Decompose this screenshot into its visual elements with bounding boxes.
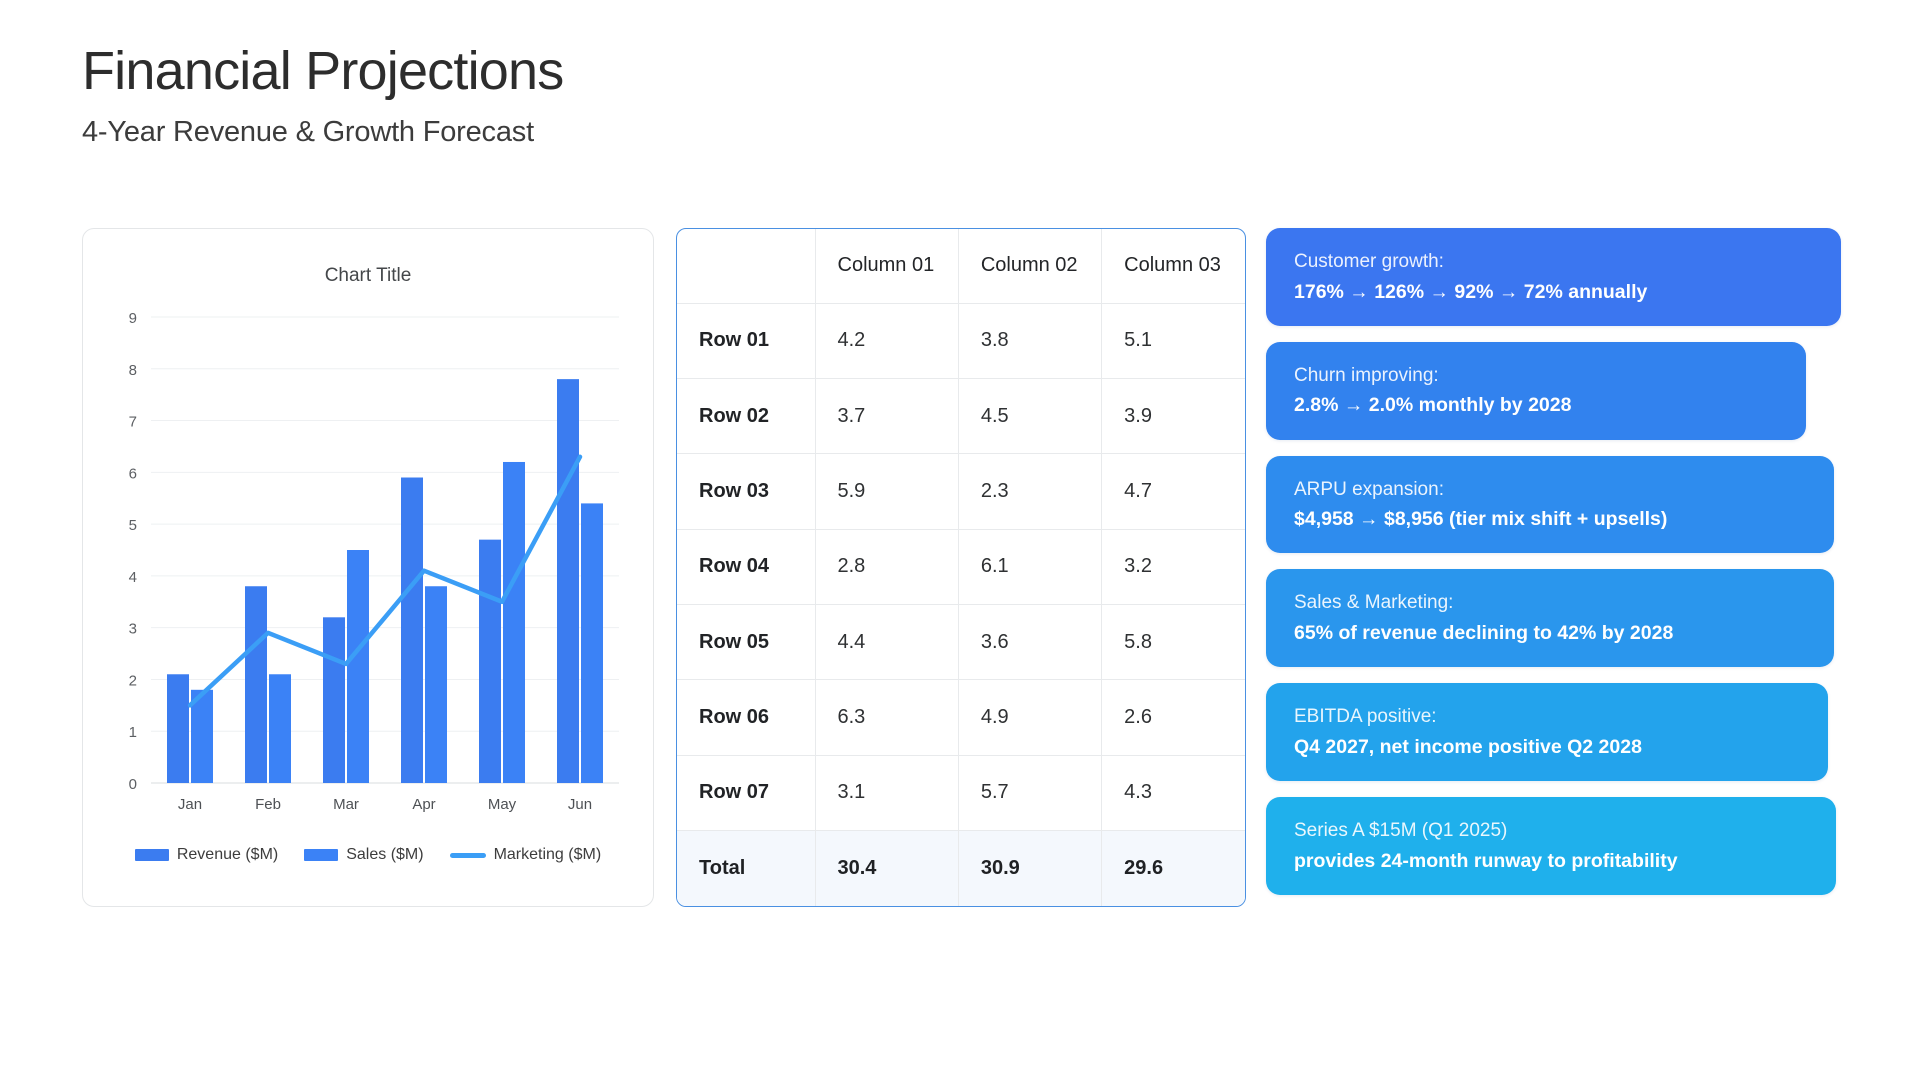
table-cell: 3.6 [958, 605, 1101, 680]
insight-card[interactable]: Churn improving:2.8% → 2.0% monthly by 2… [1266, 342, 1806, 440]
table-row-label: Row 07 [677, 755, 815, 830]
table-row[interactable]: Row 035.92.34.7 [677, 454, 1245, 529]
bar [557, 379, 579, 783]
table-row[interactable]: Row 054.43.65.8 [677, 605, 1245, 680]
table-cell: 4.3 [1102, 755, 1245, 830]
insight-card-value: provides 24-month runway to profitabilit… [1294, 847, 1808, 875]
table-row-label: Row 06 [677, 680, 815, 755]
insight-card-value: 176% → 126% → 92% → 72% annually [1294, 278, 1813, 306]
y-axis-tick-label: 0 [129, 776, 137, 793]
bar-line-chart: 0123456789JanFebMarAprMayJun [83, 299, 655, 839]
table-body: Row 014.23.85.1Row 023.74.53.9Row 035.92… [677, 303, 1245, 906]
bar [581, 503, 603, 783]
insight-card-label: ARPU expansion: [1294, 476, 1806, 504]
legend-line-icon [450, 853, 486, 858]
y-axis-tick-label: 6 [129, 465, 137, 482]
y-axis-tick-label: 5 [129, 517, 137, 534]
bar [167, 674, 189, 783]
table-col-header-2[interactable]: Column 02 [958, 229, 1101, 303]
legend-item[interactable]: Revenue ($M) [135, 846, 278, 864]
y-axis-tick-label: 3 [129, 621, 137, 638]
data-table: Column 01 Column 02 Column 03 Row 014.23… [677, 229, 1245, 906]
legend-item[interactable]: Sales ($M) [304, 846, 423, 864]
table-cell: 3.2 [1102, 529, 1245, 604]
table-row[interactable]: Row 014.23.85.1 [677, 303, 1245, 378]
table-cell: 2.3 [958, 454, 1101, 529]
legend-item[interactable]: Marketing ($M) [450, 846, 602, 864]
insight-card-list: Customer growth:176% → 126% → 92% → 72% … [1266, 228, 1866, 911]
table-col-header-1[interactable]: Column 01 [815, 229, 958, 303]
y-axis-tick-label: 8 [129, 362, 137, 379]
insight-card-label: Customer growth: [1294, 248, 1813, 276]
table-row-label: Row 04 [677, 529, 815, 604]
data-table-container[interactable]: Column 01 Column 02 Column 03 Row 014.23… [676, 228, 1246, 907]
legend-label: Revenue ($M) [177, 846, 278, 864]
table-cell: 2.6 [1102, 680, 1245, 755]
insight-card-label: Sales & Marketing: [1294, 589, 1806, 617]
insight-card-value: Q4 2027, net income positive Q2 2028 [1294, 733, 1800, 761]
legend-label: Sales ($M) [346, 846, 423, 864]
chart-legend: Revenue ($M)Sales ($M)Marketing ($M) [83, 846, 653, 864]
insight-card[interactable]: ARPU expansion:$4,958 → $8,956 (tier mix… [1266, 456, 1834, 554]
page-title: Financial Projections [82, 42, 563, 100]
legend-label: Marketing ($M) [494, 846, 602, 864]
insight-card[interactable]: EBITDA positive:Q4 2027, net income posi… [1266, 683, 1828, 781]
x-axis-tick-label: Feb [255, 796, 281, 813]
table-cell: 6.1 [958, 529, 1101, 604]
table-head: Column 01 Column 02 Column 03 [677, 229, 1245, 303]
bar [503, 462, 525, 783]
bar [479, 540, 501, 783]
table-cell: 4.5 [958, 378, 1101, 453]
x-axis-tick-label: May [488, 796, 517, 813]
table-row-label: Row 03 [677, 454, 815, 529]
insight-card-value: 65% of revenue declining to 42% by 2028 [1294, 619, 1806, 647]
chart-card: Chart Title 0123456789JanFebMarAprMayJun… [82, 228, 654, 907]
table-cell: 4.9 [958, 680, 1101, 755]
insight-card-label: EBITDA positive: [1294, 703, 1800, 731]
table-row-label: Row 05 [677, 605, 815, 680]
table-total-cell: 29.6 [1102, 831, 1245, 906]
table-total-cell: 30.4 [815, 831, 958, 906]
table-row[interactable]: Row 023.74.53.9 [677, 378, 1245, 453]
table-cell: 5.8 [1102, 605, 1245, 680]
bar [245, 586, 267, 783]
insight-card-label: Churn improving: [1294, 362, 1778, 390]
table-cell: 4.4 [815, 605, 958, 680]
y-axis-tick-label: 7 [129, 414, 137, 431]
page-subtitle: 4-Year Revenue & Growth Forecast [82, 116, 563, 149]
insight-card[interactable]: Customer growth:176% → 126% → 92% → 72% … [1266, 228, 1841, 326]
table-cell: 6.3 [815, 680, 958, 755]
insight-card-label: Series A $15M (Q1 2025) [1294, 817, 1808, 845]
table-row[interactable]: Row 066.34.92.6 [677, 680, 1245, 755]
bar [269, 674, 291, 783]
table-row-label: Row 01 [677, 303, 815, 378]
table-cell: 3.7 [815, 378, 958, 453]
x-axis-tick-label: Mar [333, 796, 359, 813]
x-axis-tick-label: Jan [178, 796, 202, 813]
table-cell: 2.8 [815, 529, 958, 604]
chart-title: Chart Title [83, 265, 653, 287]
insight-card[interactable]: Series A $15M (Q1 2025)provides 24-month… [1266, 797, 1836, 895]
slide-root: Financial Projections 4-Year Revenue & G… [0, 0, 1920, 1080]
chart-plot-area: 0123456789JanFebMarAprMayJun [83, 299, 655, 839]
table-row[interactable]: Row 042.86.13.2 [677, 529, 1245, 604]
table-cell: 4.2 [815, 303, 958, 378]
table-total-cell: 30.9 [958, 831, 1101, 906]
table-row-label: Row 02 [677, 378, 815, 453]
table-cell: 3.1 [815, 755, 958, 830]
y-axis-tick-label: 9 [129, 310, 137, 327]
table-total-row: Total30.430.929.6 [677, 831, 1245, 906]
bar [425, 586, 447, 783]
slide-header: Financial Projections 4-Year Revenue & G… [82, 42, 563, 149]
legend-swatch-icon [135, 849, 169, 861]
table-cell: 3.9 [1102, 378, 1245, 453]
table-row[interactable]: Row 073.15.74.3 [677, 755, 1245, 830]
table-cell: 5.1 [1102, 303, 1245, 378]
bar [323, 617, 345, 783]
y-axis-tick-label: 4 [129, 569, 137, 586]
y-axis-tick-label: 2 [129, 672, 137, 689]
table-header-row: Column 01 Column 02 Column 03 [677, 229, 1245, 303]
table-total-label: Total [677, 831, 815, 906]
x-axis-tick-label: Jun [568, 796, 592, 813]
insight-card[interactable]: Sales & Marketing:65% of revenue declini… [1266, 569, 1834, 667]
insight-card-value: 2.8% → 2.0% monthly by 2028 [1294, 391, 1778, 419]
table-col-header-3[interactable]: Column 03 [1102, 229, 1245, 303]
y-axis-tick-label: 1 [129, 724, 137, 741]
table-col-header-corner [677, 229, 815, 303]
bar [347, 550, 369, 783]
table-cell: 5.9 [815, 454, 958, 529]
table-cell: 5.7 [958, 755, 1101, 830]
x-axis-tick-label: Apr [412, 796, 435, 813]
table-cell: 4.7 [1102, 454, 1245, 529]
table-cell: 3.8 [958, 303, 1101, 378]
bar [401, 478, 423, 783]
insight-card-value: $4,958 → $8,956 (tier mix shift + upsell… [1294, 505, 1806, 533]
legend-swatch-icon [304, 849, 338, 861]
